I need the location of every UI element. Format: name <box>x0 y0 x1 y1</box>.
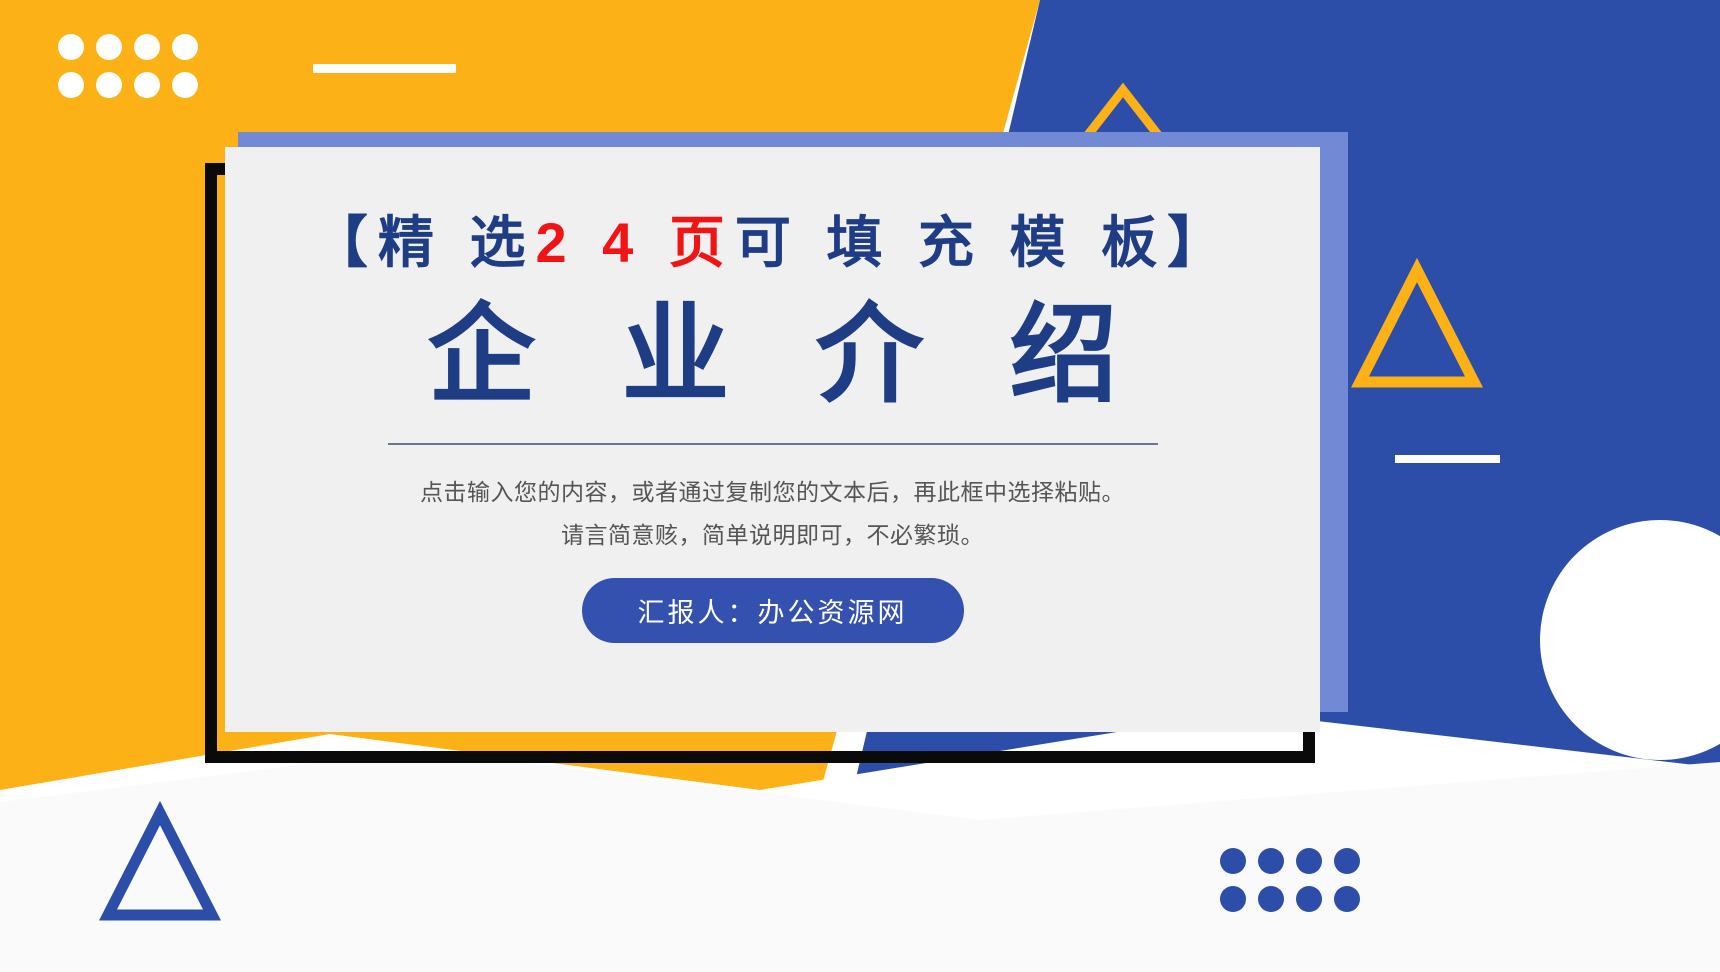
decor-white-bar-top <box>313 64 456 73</box>
dot <box>58 72 84 98</box>
dot <box>1334 886 1360 912</box>
dot <box>1334 848 1360 874</box>
dot <box>96 34 122 60</box>
dot <box>172 34 198 60</box>
presentation-slide: 【精 选2 4 页可 填 充 模 板】 企 业 介 绍 点击输入您的内容，或者通… <box>0 0 1720 972</box>
dot <box>1296 848 1322 874</box>
eyebrow-label: 【精 选2 4 页可 填 充 模 板】 <box>312 215 1233 271</box>
decor-dot-grid-bottom-right <box>1220 848 1360 912</box>
dot <box>58 34 84 60</box>
dot <box>1220 886 1246 912</box>
title-divider <box>388 443 1158 445</box>
dot <box>134 34 160 60</box>
title-card: 【精 选2 4 页可 填 充 模 板】 企 业 介 绍 点击输入您的内容，或者通… <box>225 147 1320 732</box>
subtitle-line-2: 请言简意赅，简单说明即可，不必繁琐。 <box>420 514 1125 557</box>
eyebrow-suffix: 可 填 充 模 板】 <box>735 211 1233 274</box>
subtitle-block: 点击输入您的内容，或者通过复制您的文本后，再此框中选择粘贴。 请言简意赅，简单说… <box>420 471 1125 556</box>
dot <box>1296 886 1322 912</box>
presenter-badge: 汇报人：办公资源网 <box>582 578 964 643</box>
dot <box>1258 886 1284 912</box>
eyebrow-highlight: 2 4 页 <box>535 211 734 274</box>
dot <box>96 72 122 98</box>
triangle-outline-icon-large <box>1352 262 1482 390</box>
dot <box>1220 848 1246 874</box>
subtitle-line-1: 点击输入您的内容，或者通过复制您的文本后，再此框中选择粘贴。 <box>420 471 1125 514</box>
decor-white-bar-right <box>1395 455 1500 463</box>
decor-dot-grid-top-left <box>58 34 198 98</box>
triangle-outline-icon-blue <box>100 805 220 923</box>
dot <box>134 72 160 98</box>
dot <box>1258 848 1284 874</box>
eyebrow-prefix: 【精 选 <box>312 211 536 274</box>
page-title: 企 业 介 绍 <box>399 293 1145 417</box>
dot <box>172 72 198 98</box>
